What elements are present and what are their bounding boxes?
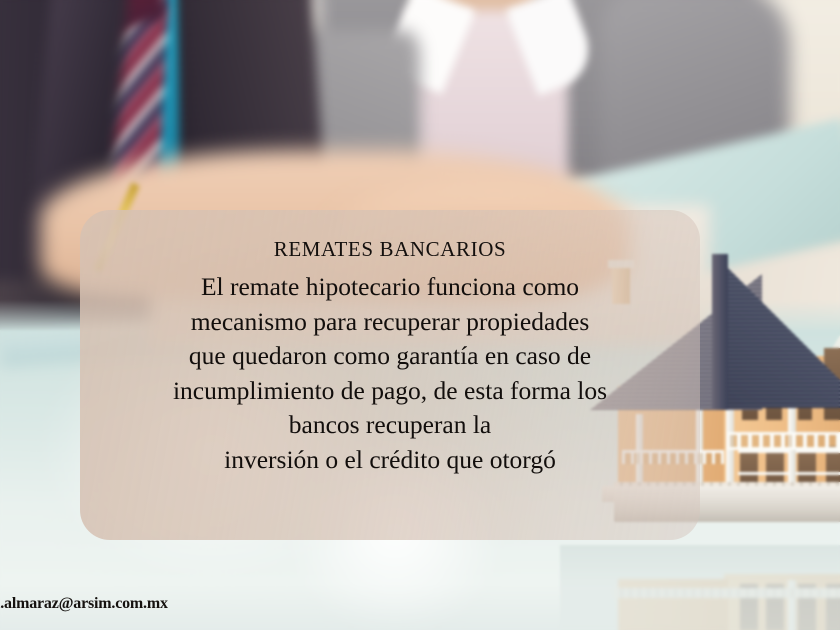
body-line: mecanismo para recuperar propiedades xyxy=(173,305,607,340)
house-roof-right xyxy=(718,258,840,408)
text-overlay-panel: REMATES BANCARIOS El remate hipotecario … xyxy=(80,210,700,540)
body-line: bancos recuperan la xyxy=(173,408,607,443)
poster-body-text: El remate hipotecario funciona como meca… xyxy=(173,270,607,477)
house-balcony-railing xyxy=(726,432,840,450)
house-roof-ridge xyxy=(712,254,728,410)
poster-image: REMATES BANCARIOS El remate hipotecario … xyxy=(0,0,840,630)
reflection-floor xyxy=(614,588,840,598)
email-watermark: i.almaraz@arsim.com.mx xyxy=(0,595,168,613)
body-line: El remate hipotecario funciona como xyxy=(173,270,607,305)
house-reflection xyxy=(600,540,840,630)
body-line: que quedaron como garantía en caso de xyxy=(173,339,607,374)
body-line: incumplimiento de pago, de esta forma lo… xyxy=(173,374,607,409)
reflection-wall xyxy=(618,579,728,630)
house-reflection-inner xyxy=(600,540,840,630)
body-line: inversión o el crédito que otorgó xyxy=(173,443,607,478)
page-title: REMATES BANCARIOS xyxy=(274,236,506,262)
